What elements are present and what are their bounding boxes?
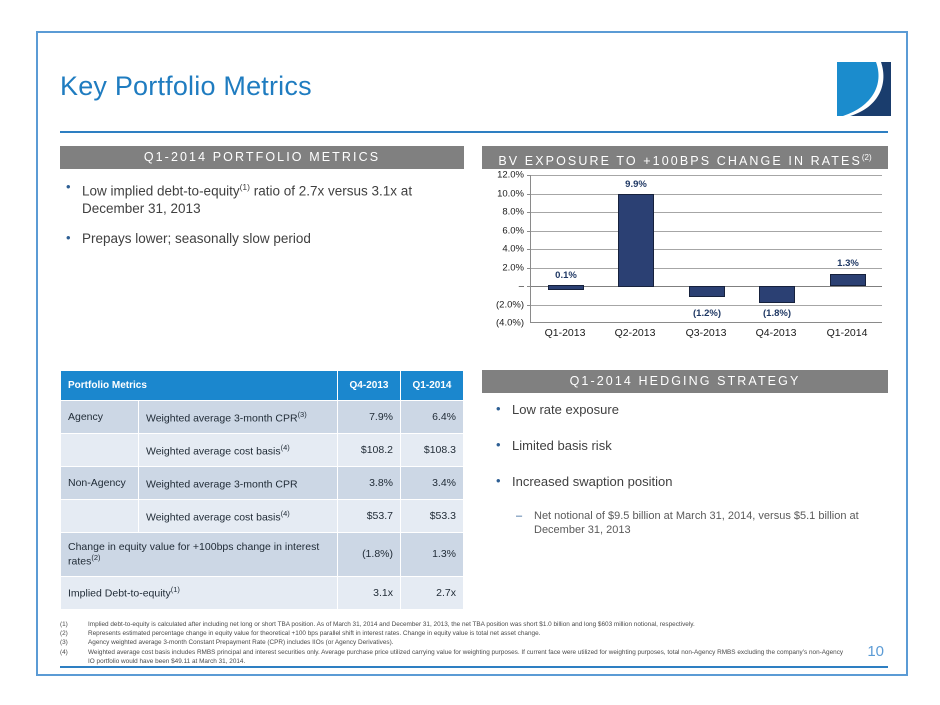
row-metric: Weighted average 3-month CPR(3) [139, 401, 338, 434]
row-label [61, 434, 139, 467]
bar-q2-2013 [618, 194, 654, 287]
metric-text: Weighted average cost basis [146, 511, 281, 523]
col-header-portfolio-metrics: Portfolio Metrics [61, 371, 338, 401]
cell-q4-2013: $108.2 [338, 434, 401, 467]
metric-note: (1) [171, 585, 180, 594]
footnote-item: (1) Implied debt-to-equity is calculated… [60, 620, 850, 629]
axis-tick [527, 268, 531, 269]
hedging-bullets: Low rate exposure Limited basis risk Inc… [490, 401, 888, 537]
bar-q1-2013 [548, 285, 584, 290]
axis-tick [527, 305, 531, 306]
x-tick-label: Q1-2013 [545, 327, 586, 339]
cell-q1-2014: 3.4% [401, 467, 464, 500]
page-title: Key Portfolio Metrics [60, 71, 312, 102]
chart-plot-area: 0.1% 9.9% (1.2%) (1.8%) 1.3% [530, 175, 882, 323]
bullet-text: Low implied debt-to-equity [82, 184, 240, 199]
y-tick-label: 4.0% [502, 244, 524, 255]
cell-q4-2013: $53.7 [338, 500, 401, 533]
metric-text: Weighted average cost basis [146, 445, 281, 457]
col-header-q1-2014: Q1-2014 [401, 371, 464, 401]
bullet-item: Limited basis risk [490, 437, 888, 454]
x-tick-label: Q2-2013 [615, 327, 656, 339]
cell-q4-2013: 7.9% [338, 401, 401, 434]
metric-text: Weighted average 3-month CPR [146, 412, 298, 424]
section-header-portfolio-metrics: Q1-2014 PORTFOLIO METRICS [60, 146, 464, 169]
table-row: Weighted average cost basis(4) $53.7 $53… [61, 500, 464, 533]
table-row: Change in equity value for +100bps chang… [61, 533, 464, 577]
metric-text: Weighted average 3-month CPR [146, 478, 298, 490]
footnote-marker: (4) [60, 648, 88, 666]
x-tick-label: Q4-2013 [756, 327, 797, 339]
bullet-item: Low implied debt-to-equity(1) ratio of 2… [60, 179, 460, 217]
row-label [61, 500, 139, 533]
data-label-q4-2013: (1.8%) [753, 308, 801, 319]
footnote-text: Weighted average cost basis includes RMB… [88, 648, 850, 666]
cell-q1-2014: $108.3 [401, 434, 464, 467]
cell-q1-2014: 6.4% [401, 401, 464, 434]
bv-header-note: (2) [862, 153, 872, 162]
y-tick-label: (4.0%) [496, 318, 524, 329]
data-label-q3-2013: (1.2%) [683, 308, 731, 319]
cell-q4-2013: 3.1x [338, 576, 401, 609]
metric-text: Implied Debt-to-equity [68, 588, 171, 600]
footnote-text: Represents estimated percentage change i… [88, 629, 850, 638]
metric-text: Change in equity value for +100bps chang… [68, 541, 319, 568]
sub-bullet-item: Net notional of $9.5 billion at March 31… [490, 509, 888, 537]
footer-divider [60, 666, 888, 668]
table-row: Agency Weighted average 3-month CPR(3) 7… [61, 401, 464, 434]
footnote-marker: (1) [60, 620, 88, 629]
axis-tick [527, 286, 531, 287]
x-tick-label: Q1-2014 [827, 327, 868, 339]
chart-x-axis: Q1-2013 Q2-2013 Q3-2013 Q4-2013 Q1-2014 [530, 327, 882, 347]
footnotes: (1) Implied debt-to-equity is calculated… [60, 620, 850, 666]
metric-note: (4) [281, 443, 290, 452]
footnote-marker: (3) [60, 638, 88, 647]
cell-q1-2014: 2.7x [401, 576, 464, 609]
axis-tick [527, 194, 531, 195]
data-label-q2-2013: 9.9% [618, 179, 654, 190]
row-metric-wide: Change in equity value for +100bps chang… [61, 533, 338, 577]
footnote-marker: (2) [60, 629, 88, 638]
bar-q1-2014 [830, 274, 866, 286]
y-tick-label: – [519, 281, 524, 292]
footnote-item: (4) Weighted average cost basis includes… [60, 648, 850, 666]
bullet-item: Prepays lower; seasonally slow period [60, 230, 460, 247]
title-divider [60, 131, 888, 133]
cell-q4-2013: 3.8% [338, 467, 401, 500]
y-tick-label: 6.0% [502, 225, 524, 236]
table-header-row: Portfolio Metrics Q4-2013 Q1-2014 [61, 371, 464, 401]
section-header-bv-exposure: BV EXPOSURE TO +100BPS CHANGE IN RATES(2… [482, 146, 888, 169]
metric-note: (3) [298, 410, 307, 419]
bullet-text: Prepays lower; seasonally slow period [82, 231, 311, 246]
gridline [531, 175, 882, 176]
bar-q3-2013 [689, 286, 725, 297]
y-tick-label: (2.0%) [496, 299, 524, 310]
y-tick-label: 8.0% [502, 207, 524, 218]
company-logo-icon [837, 62, 891, 116]
col-header-q4-2013: Q4-2013 [338, 371, 401, 401]
gridline [531, 231, 882, 232]
footnote-item: (3) Agency weighted average 3-month Cons… [60, 638, 850, 647]
row-metric: Weighted average cost basis(4) [139, 500, 338, 533]
row-metric: Weighted average cost basis(4) [139, 434, 338, 467]
bar-q4-2013 [759, 286, 795, 303]
cell-q1-2014: 1.3% [401, 533, 464, 577]
row-metric-wide: Implied Debt-to-equity(1) [61, 576, 338, 609]
footnote-item: (2) Represents estimated percentage chan… [60, 629, 850, 638]
gridline [531, 194, 882, 195]
bullet-item: Low rate exposure [490, 401, 888, 418]
data-label-q1-2014: 1.3% [830, 258, 866, 269]
axis-tick [527, 175, 531, 176]
metric-note: (2) [91, 553, 100, 562]
row-metric: Weighted average 3-month CPR [139, 467, 338, 500]
bv-header-text: BV EXPOSURE TO +100BPS CHANGE IN RATES [498, 154, 862, 168]
row-label: Non-Agency [61, 467, 139, 500]
y-tick-label: 2.0% [502, 262, 524, 273]
portfolio-metrics-table: Portfolio Metrics Q4-2013 Q1-2014 Agency… [60, 370, 464, 610]
cell-q1-2014: $53.3 [401, 500, 464, 533]
footnote-text: Agency weighted average 3-month Constant… [88, 638, 850, 647]
bullet-item: Increased swaption position [490, 473, 888, 490]
chart-y-axis: 12.0% 10.0% 8.0% 6.0% 4.0% 2.0% – (2.0%)… [482, 175, 528, 323]
section-header-hedging-strategy: Q1-2014 HEDGING STRATEGY [482, 370, 888, 393]
table-row: Weighted average cost basis(4) $108.2 $1… [61, 434, 464, 467]
x-tick-label: Q3-2013 [686, 327, 727, 339]
bullet-note: (1) [240, 182, 250, 192]
portfolio-bullets: Low implied debt-to-equity(1) ratio of 2… [60, 179, 460, 260]
bv-exposure-chart: 12.0% 10.0% 8.0% 6.0% 4.0% 2.0% – (2.0%)… [482, 175, 888, 355]
row-label: Agency [61, 401, 139, 434]
cell-q4-2013: (1.8%) [338, 533, 401, 577]
table-row: Implied Debt-to-equity(1) 3.1x 2.7x [61, 576, 464, 609]
gridline [531, 249, 882, 250]
axis-tick [527, 249, 531, 250]
axis-tick [527, 212, 531, 213]
metric-note: (4) [281, 509, 290, 518]
y-tick-label: 12.0% [497, 170, 524, 181]
y-tick-label: 10.0% [497, 188, 524, 199]
slide: Key Portfolio Metrics Q1-2014 PORTFOLIO … [36, 31, 908, 676]
table-row: Non-Agency Weighted average 3-month CPR … [61, 467, 464, 500]
gridline [531, 305, 882, 306]
axis-tick [527, 231, 531, 232]
footnote-text: Implied debt-to-equity is calculated aft… [88, 620, 850, 629]
gridline [531, 212, 882, 213]
page-number: 10 [867, 643, 884, 660]
data-label-q1-2013: 0.1% [548, 270, 584, 281]
